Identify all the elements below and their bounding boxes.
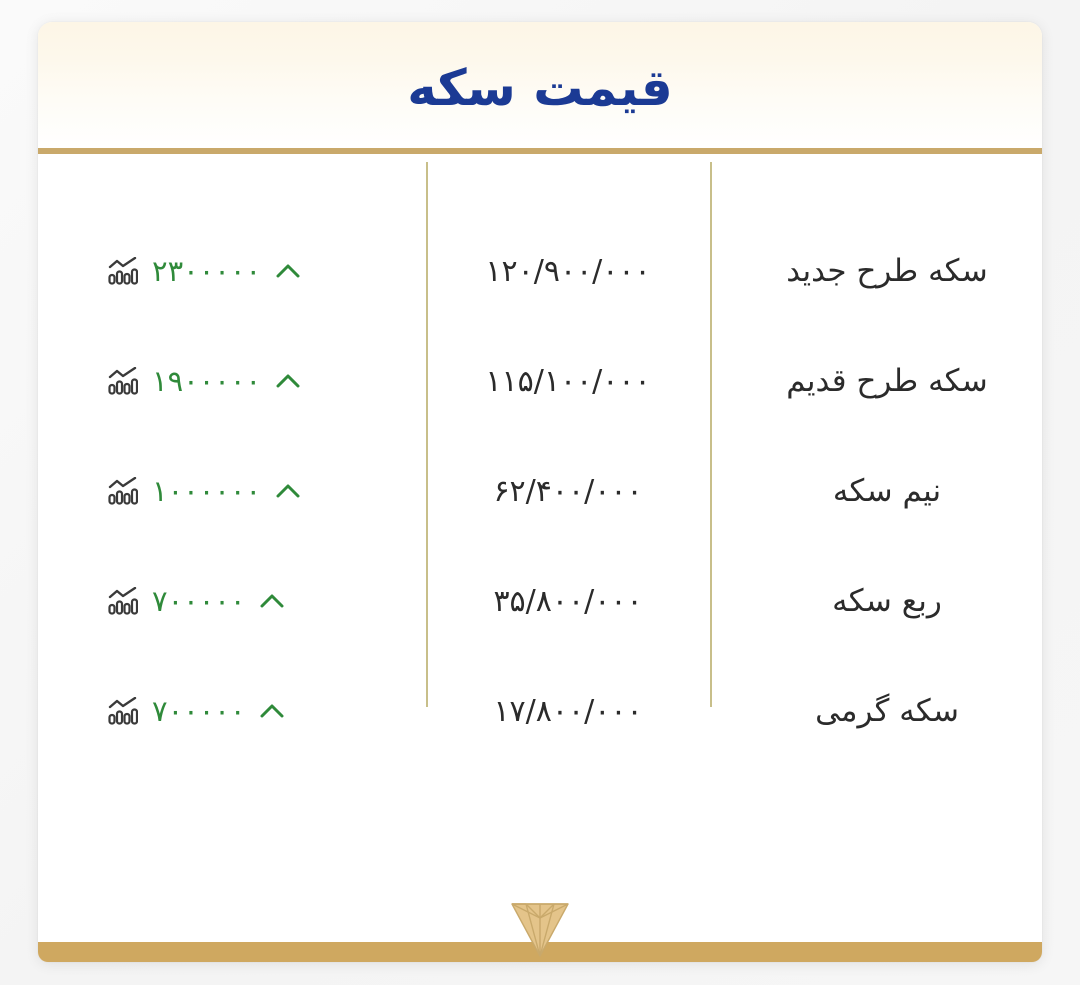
row-change-cell: ۲۳۰۰۰۰۰ (38, 254, 426, 288)
table-row[interactable]: سکه طرح قدیم ۱۱۵/۱۰۰/۰۰۰ (38, 326, 1042, 436)
table-row[interactable]: سکه گرمی ۱۷/۸۰۰/۰۰۰ (38, 656, 1042, 766)
chart-icon[interactable] (108, 257, 138, 285)
row-name-cell: سکه طرح جدید (710, 253, 1042, 289)
chart-icon[interactable] (108, 697, 138, 725)
row-name-cell: ربع سکه (710, 583, 1042, 619)
coin-name: ربع سکه (810, 583, 942, 619)
price-table: سکه طرح جدید ۱۲۰/۹۰۰/۰۰۰ (38, 154, 1042, 962)
change-value: ۷۰۰۰۰۰ (152, 584, 245, 618)
row-price-cell: ۱۲۰/۹۰۰/۰۰۰ (426, 254, 710, 289)
card-header: قیمت سکه (38, 22, 1042, 148)
row-name-cell: سکه گرمی (710, 693, 1042, 729)
coin-name: سکه طرح قدیم (764, 363, 988, 399)
caret-up-icon (259, 590, 285, 612)
table-row[interactable]: ربع سکه ۳۵/۸۰۰/۰۰۰ (38, 546, 1042, 656)
change-value: ۱۰۰۰۰۰۰ (152, 474, 261, 508)
caret-up-icon (275, 480, 301, 502)
row-price-cell: ۶۲/۴۰۰/۰۰۰ (426, 474, 710, 509)
row-change-cell: ۱۰۰۰۰۰۰ (38, 474, 426, 508)
caret-up-icon (275, 260, 301, 282)
change-value: ۱۹۰۰۰۰۰ (152, 364, 261, 398)
change-value: ۲۳۰۰۰۰۰ (152, 254, 261, 288)
page-root: قیمت سکه سکه طرح جدید ۱۲۰/۹۰۰/۰۰۰ (0, 0, 1080, 985)
chart-icon[interactable] (108, 477, 138, 505)
coin-price-card: قیمت سکه سکه طرح جدید ۱۲۰/۹۰۰/۰۰۰ (38, 22, 1042, 962)
coin-name: نیم سکه (811, 473, 941, 509)
table-row[interactable]: نیم سکه ۶۲/۴۰۰/۰۰۰ (38, 436, 1042, 546)
page-title: قیمت سکه (407, 63, 673, 113)
change-value: ۷۰۰۰۰۰ (152, 694, 245, 728)
coin-price: ۶۲/۴۰۰/۰۰۰ (493, 474, 642, 509)
coin-price: ۱۲۰/۹۰۰/۰۰۰ (485, 254, 650, 289)
row-name-cell: سکه طرح قدیم (710, 363, 1042, 399)
row-change-cell: ۷۰۰۰۰۰ (38, 694, 426, 728)
row-change-cell: ۷۰۰۰۰۰ (38, 584, 426, 618)
caret-up-icon (275, 370, 301, 392)
row-price-cell: ۳۵/۸۰۰/۰۰۰ (426, 584, 710, 619)
row-price-cell: ۱۱۵/۱۰۰/۰۰۰ (426, 364, 710, 399)
row-price-cell: ۱۷/۸۰۰/۰۰۰ (426, 694, 710, 729)
caret-up-icon (259, 700, 285, 722)
table-row[interactable]: سکه طرح جدید ۱۲۰/۹۰۰/۰۰۰ (38, 216, 1042, 326)
coin-name: سکه گرمی (793, 693, 959, 729)
row-name-cell: نیم سکه (710, 473, 1042, 509)
chart-icon[interactable] (108, 587, 138, 615)
coin-price: ۱۱۵/۱۰۰/۰۰۰ (485, 364, 650, 399)
price-rows: سکه طرح جدید ۱۲۰/۹۰۰/۰۰۰ (38, 216, 1042, 766)
coin-price: ۳۵/۸۰۰/۰۰۰ (493, 584, 642, 619)
coin-price: ۱۷/۸۰۰/۰۰۰ (493, 694, 642, 729)
chart-icon[interactable] (108, 367, 138, 395)
row-change-cell: ۱۹۰۰۰۰۰ (38, 364, 426, 398)
coin-name: سکه طرح جدید (764, 253, 988, 289)
